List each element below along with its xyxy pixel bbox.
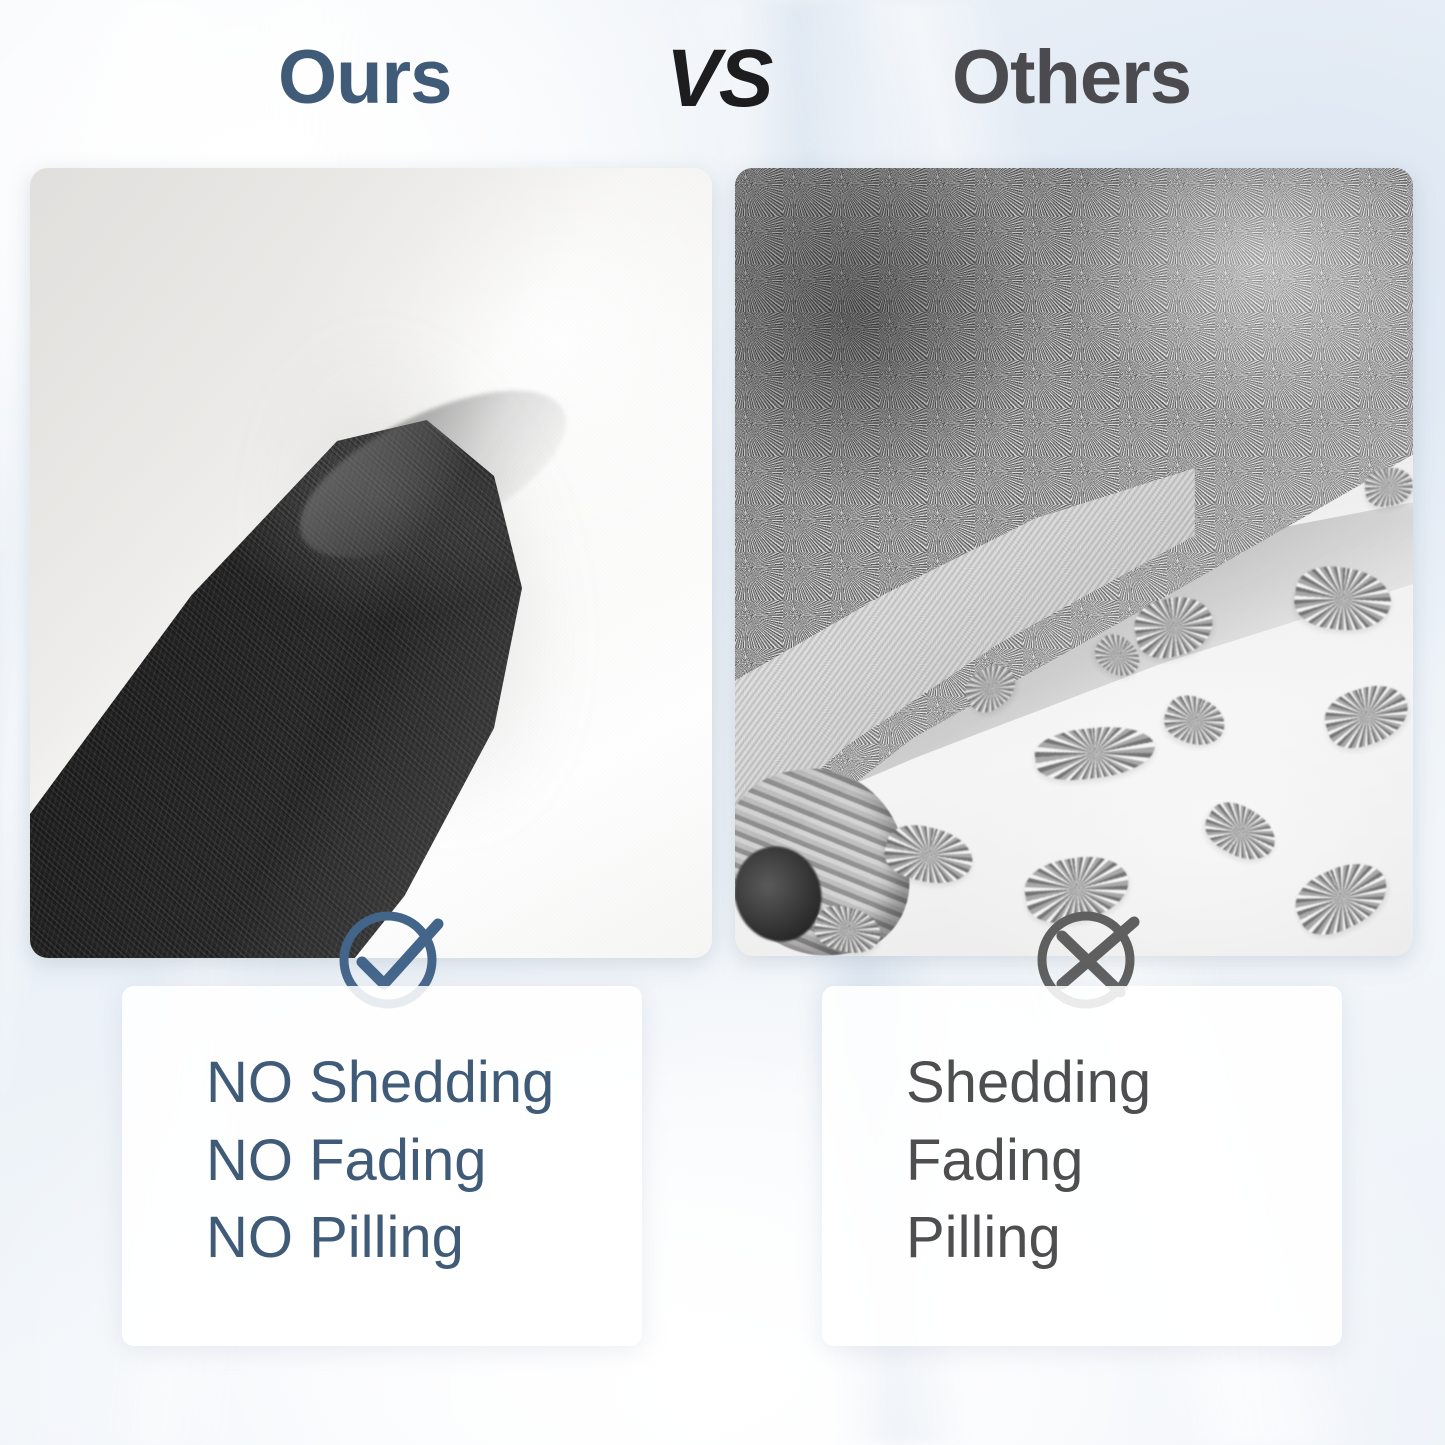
ours-photo-panel [30,168,712,958]
feature-item: Pilling [906,1199,1151,1277]
ours-feature-list: NO Shedding NO Fading NO Pilling [206,1044,554,1277]
others-feature-card: Shedding Fading Pilling [822,986,1342,1346]
others-photo-panel [735,168,1413,956]
feature-item: NO Fading [206,1122,554,1200]
ours-feature-card: NO Shedding NO Fading NO Pilling [122,986,642,1346]
header-ours-label: Ours [278,40,451,116]
comparison-infographic: Ours VS Others [0,0,1445,1445]
header-others-label: Others [952,40,1191,116]
header-vs-label: VS [666,38,771,120]
feature-item: Shedding [906,1044,1151,1122]
feature-item: Fading [906,1122,1151,1200]
feature-item: NO Shedding [206,1044,554,1122]
header-row: Ours VS Others [0,0,1445,160]
feature-item: NO Pilling [206,1199,554,1277]
others-feature-list: Shedding Fading Pilling [906,1044,1151,1277]
